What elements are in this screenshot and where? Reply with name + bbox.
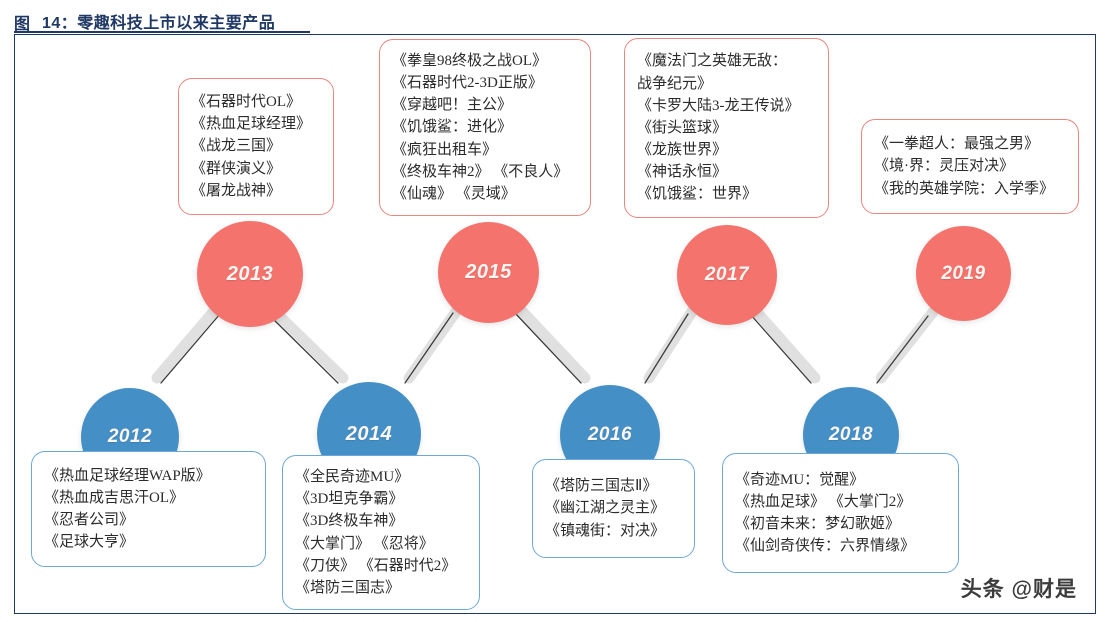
- product-line: 《龙族世界》: [637, 139, 816, 161]
- product-line: 《终极车神2》 《不良人》: [392, 161, 578, 183]
- product-line: 《疯狂出租车》: [392, 139, 578, 161]
- product-line: 《塔防三国志》: [295, 577, 467, 599]
- product-line: 《幽江湖之灵主》: [545, 497, 682, 519]
- product-line: 《3D终极车神》: [295, 510, 467, 532]
- product-line: 《石器时代OL》: [191, 91, 321, 113]
- products-box-2012: 《热血足球经理WAP版》 《热血成吉思汗OL》 《忍者公司》 《足球大亨》: [31, 451, 266, 567]
- product-line: 《街头篮球》: [637, 117, 816, 139]
- product-line: 《热血足球经理WAP版》: [44, 465, 253, 487]
- product-line: 《3D坦克争霸》: [295, 488, 467, 510]
- product-line: 战争纪元》: [637, 73, 816, 95]
- timeline-node-2017[interactable]: 2017: [677, 225, 777, 325]
- node-year-label: 2017: [705, 264, 749, 286]
- timeline-node-2015[interactable]: 2015: [438, 222, 539, 323]
- product-line: 《拳皇98终极之战OL》: [392, 50, 578, 72]
- product-line: 《群侠演义》: [191, 158, 321, 180]
- product-line: 《战龙三国》: [191, 135, 321, 157]
- timeline-node-2013[interactable]: 2013: [197, 221, 303, 327]
- timeline-canvas: 2012 2013 2014 2015 2016 2017 2018 2019 …: [14, 34, 1096, 614]
- product-line: 《足球大亨》: [44, 531, 253, 553]
- product-line: 《热血足球经理》: [191, 113, 321, 135]
- product-line: 《境·界：灵压对决》: [874, 155, 1066, 177]
- products-box-2015: 《拳皇98终极之战OL》 《石器时代2-3D正版》 《穿越吧！主公》 《饥饿鲨：…: [379, 39, 591, 216]
- products-box-2018: 《奇迹MU：觉醒》 《热血足球》 《大掌门2》 《初音未来：梦幻歌姬》 《仙剑奇…: [722, 453, 959, 573]
- product-line: 《热血成吉思汗OL》: [44, 487, 253, 509]
- product-line: 《我的英雄学院：入学季》: [874, 178, 1066, 200]
- node-year-label: 2014: [346, 423, 393, 446]
- node-year-label: 2018: [829, 424, 873, 446]
- product-line: 《穿越吧！主公》: [392, 94, 578, 116]
- node-year-label: 2013: [227, 263, 274, 286]
- product-line: 《忍者公司》: [44, 509, 253, 531]
- products-box-2016: 《塔防三国志Ⅱ》 《幽江湖之灵主》 《镇魂街：对决》: [532, 459, 695, 558]
- product-line: 《魔法门之英雄无敌：: [637, 50, 816, 72]
- product-line: 《神话永恒》: [637, 161, 816, 183]
- infographic-page: 图 14：零趣科技上市以来主要产品: [0, 0, 1108, 622]
- product-line: 《刀侠》 《石器时代2》: [295, 555, 467, 577]
- node-year-label: 2019: [941, 263, 985, 285]
- node-year-label: 2015: [465, 261, 512, 284]
- product-line: 《全民奇迹MU》: [295, 466, 467, 488]
- product-line: 《初音未来：梦幻歌姬》: [735, 513, 946, 535]
- products-box-2013: 《石器时代OL》 《热血足球经理》 《战龙三国》 《群侠演义》 《屠龙战神》: [178, 78, 334, 215]
- page-title: 14：零趣科技上市以来主要产品: [42, 9, 275, 33]
- product-line: 《镇魂街：对决》: [545, 520, 682, 542]
- product-line: 《热血足球》 《大掌门2》: [735, 491, 946, 513]
- product-line: 《仙魂》 《灵域》: [392, 183, 578, 205]
- product-line: 《饥饿鲨：进化》: [392, 116, 578, 138]
- products-box-2019: 《一拳超人：最强之男》 《境·界：灵压对决》 《我的英雄学院：入学季》: [861, 119, 1079, 214]
- product-line: 《大掌门》 《忍将》: [295, 533, 467, 555]
- watermark: 头条 @财是: [961, 573, 1077, 603]
- products-box-2017: 《魔法门之英雄无敌： 战争纪元》 《卡罗大陆3-龙王传说》 《街头篮球》 《龙族…: [624, 38, 829, 218]
- product-line: 《仙剑奇侠传：六界情缘》: [735, 535, 946, 557]
- product-line: 《屠龙战神》: [191, 180, 321, 202]
- product-line: 《石器时代2-3D正版》: [392, 72, 578, 94]
- product-line: 《一拳超人：最强之男》: [874, 133, 1066, 155]
- product-line: 《塔防三国志Ⅱ》: [545, 475, 682, 497]
- node-year-label: 2012: [108, 426, 152, 448]
- product-line: 《卡罗大陆3-龙王传说》: [637, 95, 816, 117]
- node-year-label: 2016: [588, 424, 632, 446]
- product-line: 《饥饿鲨：世界》: [637, 183, 816, 205]
- timeline-node-2019[interactable]: 2019: [916, 226, 1011, 321]
- product-line: 《奇迹MU：觉醒》: [735, 469, 946, 491]
- title-underline: [14, 31, 310, 33]
- figure-title-bar: 图 14：零趣科技上市以来主要产品: [0, 0, 1108, 34]
- products-box-2014: 《全民奇迹MU》 《3D坦克争霸》 《3D终极车神》 《大掌门》 《忍将》 《刀…: [282, 455, 480, 610]
